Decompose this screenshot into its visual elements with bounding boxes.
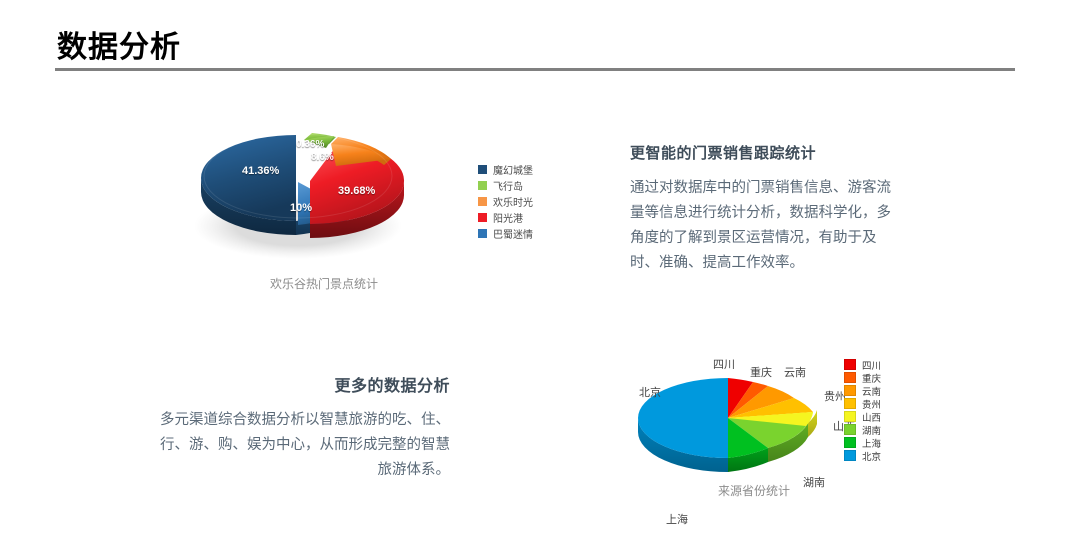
slice-label-beijing: 北京	[639, 384, 661, 400]
page-title: 数据分析	[57, 22, 181, 66]
legend-label-shanxi: 山西	[862, 410, 881, 424]
legend-item-chongqing[interactable]: 重庆	[844, 371, 881, 384]
legend-swatch-hunan	[844, 424, 856, 435]
legend-item-island[interactable]: 飞行岛	[478, 178, 533, 193]
ticket-tracking-section: 更智能的门票销售跟踪统计 通过对数据库中的门票销售信息、游客流量等信息进行统计分…	[630, 142, 902, 276]
slice-label-guizhou: 贵州	[824, 388, 846, 404]
legend-item-sun[interactable]: 阳光港	[478, 210, 533, 225]
legend-swatch-sun	[478, 213, 487, 222]
legend-swatch-castle	[478, 165, 487, 174]
legend-item-shanghai[interactable]: 上海	[844, 436, 881, 449]
more-analysis-heading: 更多的数据分析	[160, 372, 450, 396]
legend-swatch-chongqing	[844, 372, 856, 383]
title-divider	[55, 68, 1015, 71]
pie-1-legend: 魔幻城堡 飞行岛 欢乐时光 阳光港 巴蜀迷情	[478, 162, 533, 242]
legend-swatch-island	[478, 181, 487, 190]
legend-item-happy[interactable]: 欢乐时光	[478, 194, 533, 209]
legend-label-hunan: 湖南	[862, 423, 881, 437]
pie-1-caption: 欢乐谷热门景点统计	[234, 275, 414, 292]
legend-label-castle: 魔幻城堡	[493, 162, 533, 177]
source-province-pie-chart: 四川 重庆 云南 贵州 山西 湖南 上海 北京 来源省份统计 四川 重庆 云南 …	[604, 330, 904, 510]
legend-swatch-bashu	[478, 229, 487, 238]
legend-swatch-happy	[478, 197, 487, 206]
legend-label-shanghai: 上海	[862, 436, 881, 450]
pie-1-svg	[186, 118, 436, 268]
legend-swatch-beijing	[844, 450, 856, 461]
more-analysis-section: 更多的数据分析 多元渠道综合数据分析以智慧旅游的吃、住、行、游、购、娱为中心，从…	[160, 372, 450, 483]
ticket-tracking-heading: 更智能的门票销售跟踪统计	[630, 142, 902, 163]
legend-item-hunan[interactable]: 湖南	[844, 423, 881, 436]
hot-spots-pie-chart: 41.36% 0.36% 8.6% 39.68% 10% 欢乐谷热门景点统计 魔…	[186, 118, 546, 298]
legend-label-island: 飞行岛	[493, 178, 523, 193]
legend-label-sichuan: 四川	[862, 358, 881, 372]
legend-item-guizhou[interactable]: 贵州	[844, 397, 881, 410]
pie-chart-2-graphic: 四川 重庆 云南 贵州 山西 湖南 上海 北京	[628, 356, 822, 476]
slice-label-sichuan: 四川	[713, 356, 735, 372]
legend-item-bashu[interactable]: 巴蜀迷情	[478, 226, 533, 241]
legend-item-yunnan[interactable]: 云南	[844, 384, 881, 397]
legend-item-sichuan[interactable]: 四川	[844, 358, 881, 371]
legend-swatch-guizhou	[844, 398, 856, 409]
legend-label-guizhou: 贵州	[862, 397, 881, 411]
slice-label-chongqing: 重庆	[750, 364, 772, 380]
legend-label-chongqing: 重庆	[862, 371, 881, 385]
legend-swatch-sichuan	[844, 359, 856, 370]
pie-2-caption: 来源省份统计	[684, 482, 824, 499]
legend-item-beijing[interactable]: 北京	[844, 449, 881, 462]
ticket-tracking-body: 通过对数据库中的门票销售信息、游客流量等信息进行统计分析，数据科学化，多角度的了…	[630, 176, 902, 276]
legend-label-beijing: 北京	[862, 449, 881, 463]
legend-label-happy: 欢乐时光	[493, 194, 533, 209]
slice-label-yunnan: 云南	[784, 364, 806, 380]
pie-2-legend: 四川 重庆 云南 贵州 山西 湖南 上海 北京	[844, 358, 881, 462]
legend-item-shanxi[interactable]: 山西	[844, 410, 881, 423]
legend-label-yunnan: 云南	[862, 384, 881, 398]
more-analysis-body: 多元渠道综合数据分析以智慧旅游的吃、住、行、游、购、娱为中心，从而形成完整的智慧…	[160, 408, 450, 483]
legend-label-bashu: 巴蜀迷情	[493, 226, 533, 241]
legend-swatch-shanghai	[844, 437, 856, 448]
legend-swatch-yunnan	[844, 385, 856, 396]
legend-label-sun: 阳光港	[493, 210, 523, 225]
slice-label-shanghai: 上海	[666, 511, 688, 527]
pie-chart-1-graphic: 41.36% 0.36% 8.6% 39.68% 10%	[186, 118, 436, 268]
legend-swatch-shanxi	[844, 411, 856, 422]
legend-item-castle[interactable]: 魔幻城堡	[478, 162, 533, 177]
